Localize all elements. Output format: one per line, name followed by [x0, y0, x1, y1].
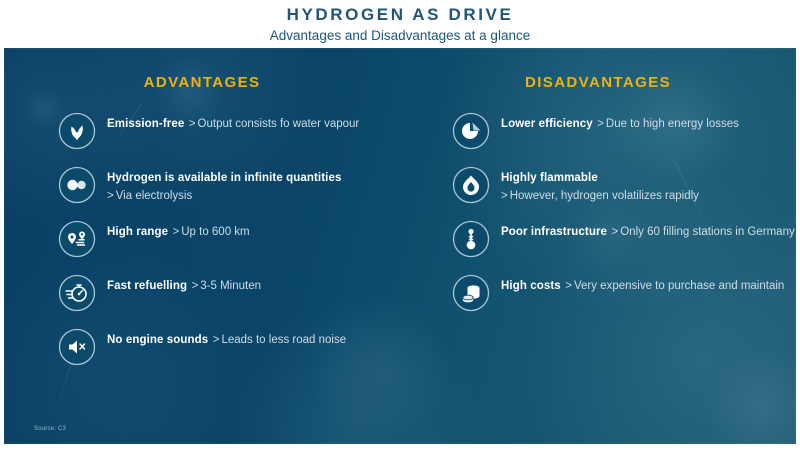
list-item-text: No engine sounds >Leads to less road noi…	[107, 327, 346, 348]
list-item-desc: >3-5 Minuten	[192, 280, 261, 292]
list-item-title: High range	[107, 226, 168, 238]
list-item: Emission-free >Output consists fo water …	[4, 111, 400, 150]
chevron-icon: >	[565, 280, 572, 292]
list-item: Poor infrastructure >Only 60 filling sta…	[400, 219, 796, 258]
advantages-column: ADVANTAGES Emission-free	[4, 48, 400, 444]
chevron-icon: >	[192, 280, 199, 292]
slide-header: HYDROGEN AS DRIVE Advantages and Disadva…	[0, 0, 800, 48]
list-item-text: Highly flammable >However, hydrogen vola…	[501, 165, 796, 204]
disadvantages-column: DISADVANTAGES Lower efficiency	[400, 48, 796, 444]
disadvantages-list: Lower efficiency >Due to high energy los…	[400, 111, 796, 312]
advantages-list: Emission-free >Output consists fo water …	[4, 111, 400, 366]
speaker-mute-icon	[58, 328, 96, 366]
list-item-desc-text: Via electrolysis	[116, 190, 193, 202]
columns-container: ADVANTAGES Emission-free	[4, 48, 796, 444]
list-item: No engine sounds >Leads to less road noi…	[4, 327, 400, 366]
list-item-desc: >Via electrolysis	[107, 190, 192, 202]
list-item-desc: >Output consists fo water vapour	[189, 118, 359, 130]
list-item-desc-text: 3-5 Minuten	[200, 280, 261, 292]
list-item-text: Fast refuelling >3-5 Minuten	[107, 273, 261, 294]
slide: HYDROGEN AS DRIVE Advantages and Disadva…	[0, 0, 800, 450]
list-item-text: Poor infrastructure >Only 60 filling sta…	[501, 219, 795, 240]
list-item: Highly flammable >However, hydrogen vola…	[400, 165, 796, 204]
disadvantages-heading: DISADVANTAGES	[400, 74, 796, 91]
list-item: High range >Up to 600 km	[4, 219, 400, 258]
list-item-title: Highly flammable	[501, 172, 598, 184]
list-item-desc-text: Output consists fo water vapour	[198, 118, 360, 130]
chevron-icon: >	[612, 226, 619, 238]
list-item-desc: >However, hydrogen volatilizes rapidly	[501, 190, 699, 202]
list-item-desc-text: Leads to less road noise	[221, 334, 346, 346]
flame-icon	[452, 166, 490, 204]
list-item-desc-text: Only 60 filling stations in Germany	[620, 226, 795, 238]
list-item-desc: >Very expensive to purchase and maintain	[565, 280, 784, 292]
list-item-desc: >Up to 600 km	[173, 226, 250, 238]
list-item-title: Emission-free	[107, 118, 184, 130]
fuel-pump-icon	[452, 220, 490, 258]
list-item-title: Poor infrastructure	[501, 226, 607, 238]
content-panel: ADVANTAGES Emission-free	[4, 48, 796, 444]
page-subtitle: Advantages and Disadvantages at a glance	[0, 25, 800, 44]
chevron-icon: >	[189, 118, 196, 130]
page-title: HYDROGEN AS DRIVE	[0, 0, 800, 25]
list-item-title: Hydrogen is available in infinite quanti…	[107, 172, 341, 184]
list-item-title: No engine sounds	[107, 334, 208, 346]
chevron-icon: >	[213, 334, 220, 346]
list-item-desc-text: Very expensive to purchase and maintain	[574, 280, 784, 292]
leaf-icon	[58, 112, 96, 150]
coins-icon	[452, 274, 490, 312]
list-item-desc-text: Up to 600 km	[181, 226, 249, 238]
list-item-desc-text: Due to high energy losses	[606, 118, 739, 130]
list-item-title: Lower efficiency	[501, 118, 593, 130]
list-item-title: High costs	[501, 280, 561, 292]
chevron-icon: >	[107, 190, 114, 202]
list-item-text: High range >Up to 600 km	[107, 219, 250, 240]
list-item: Lower efficiency >Due to high energy los…	[400, 111, 796, 150]
list-item-desc: >Leads to less road noise	[213, 334, 346, 346]
list-item-desc-text: However, hydrogen volatilizes rapidly	[510, 190, 699, 202]
chevron-icon: >	[173, 226, 180, 238]
list-item-text: Emission-free >Output consists fo water …	[107, 111, 359, 132]
chevron-icon: >	[597, 118, 604, 130]
chevron-icon: >	[501, 190, 508, 202]
stopwatch-icon	[58, 274, 96, 312]
pie-chart-icon	[452, 112, 490, 150]
list-item-desc: >Due to high energy losses	[597, 118, 739, 130]
list-item-desc: >Only 60 filling stations in Germany	[612, 226, 795, 238]
list-item: High costs >Very expensive to purchase a…	[400, 273, 796, 312]
list-item: Fast refuelling >3-5 Minuten	[4, 273, 400, 312]
list-item-title: Fast refuelling	[107, 280, 187, 292]
list-item: Hydrogen is available in infinite quanti…	[4, 165, 400, 204]
advantages-heading: ADVANTAGES	[4, 74, 400, 91]
list-item-text: Lower efficiency >Due to high energy los…	[501, 111, 739, 132]
route-pin-icon	[58, 220, 96, 258]
molecule-icon	[58, 166, 96, 204]
source-label: Source: C3	[34, 426, 66, 432]
list-item-text: Hydrogen is available in infinite quanti…	[107, 165, 400, 204]
list-item-text: High costs >Very expensive to purchase a…	[501, 273, 784, 294]
